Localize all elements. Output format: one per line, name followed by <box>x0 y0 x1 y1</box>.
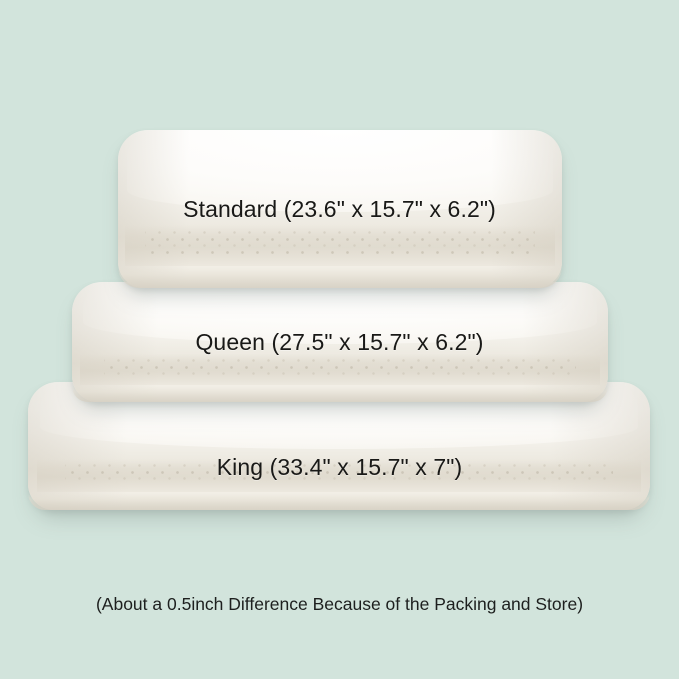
pillow-standard-base-edge <box>118 267 562 288</box>
pillow-queen-base-edge <box>72 386 608 402</box>
size-label-standard: Standard (23.6" x 15.7" x 6.2") <box>0 198 679 221</box>
pillow-queen-front-band <box>80 354 600 385</box>
size-label-king: King (33.4" x 15.7" x 7") <box>0 456 679 479</box>
packing-difference-note: (About a 0.5inch Difference Because of t… <box>0 596 679 614</box>
pillow-queen-perforations <box>104 359 576 378</box>
pillow-standard-front-band <box>125 225 556 266</box>
pillow-standard-perforations <box>145 231 536 256</box>
pillow-king-base-edge <box>28 493 650 510</box>
pillow-size-comparison-image: Standard (23.6" x 15.7" x 6.2") Queen (2… <box>0 0 679 679</box>
size-label-queen: Queen (27.5" x 15.7" x 6.2") <box>0 331 679 354</box>
